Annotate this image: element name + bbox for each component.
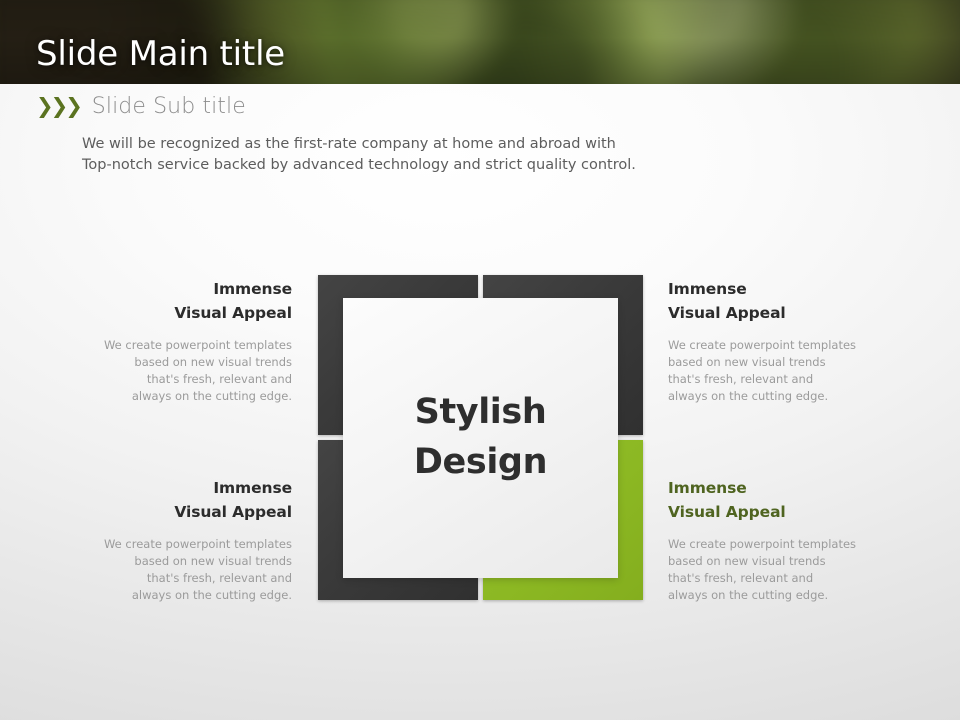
feature-block-bottom-right: Immense Visual Appeal We create powerpoi… <box>668 477 900 604</box>
feature-body-line-4: always on the cutting edge. <box>60 388 292 405</box>
feature-body-line-2: based on new visual trends <box>60 354 292 371</box>
header-banner: Slide Main title <box>0 0 960 84</box>
feature-body-line-3: that's fresh, relevant and <box>668 371 900 388</box>
feature-body-line-1: We create powerpoint templates <box>60 337 292 354</box>
slide-main-title: Slide Main title <box>36 34 285 74</box>
slide-description-line-1: We will be recognized as the first-rate … <box>82 134 842 155</box>
feature-body-line-1: We create powerpoint templates <box>60 536 292 553</box>
feature-block-top-right: Immense Visual Appeal We create powerpoi… <box>668 278 900 405</box>
feature-body: We create powerpoint templates based on … <box>668 536 900 604</box>
feature-body-line-2: based on new visual trends <box>668 553 900 570</box>
feature-body: We create powerpoint templates based on … <box>60 536 292 604</box>
slide-description: We will be recognized as the first-rate … <box>82 134 842 176</box>
feature-body-line-2: based on new visual trends <box>668 354 900 371</box>
feature-body-line-3: that's fresh, relevant and <box>668 570 900 587</box>
feature-heading: Immense Visual Appeal <box>668 278 900 325</box>
feature-body-line-3: that's fresh, relevant and <box>60 371 292 388</box>
feature-heading-line-1: Immense <box>60 477 292 501</box>
feature-heading-line-1: Immense <box>60 278 292 302</box>
feature-body: We create powerpoint templates based on … <box>668 337 900 405</box>
feature-heading-line-2: Visual Appeal <box>60 302 292 326</box>
feature-body-line-1: We create powerpoint templates <box>668 337 900 354</box>
feature-heading: Immense Visual Appeal <box>60 278 292 325</box>
chevron-right-triple-icon: ❯❯❯ <box>36 96 80 117</box>
feature-heading-line-1: Immense <box>668 477 900 501</box>
feature-body-line-4: always on the cutting edge. <box>668 587 900 604</box>
feature-block-top-left: Immense Visual Appeal We create powerpoi… <box>60 278 292 405</box>
feature-body: We create powerpoint templates based on … <box>60 337 292 405</box>
center-card-title-line-2: Design <box>414 438 547 488</box>
feature-block-bottom-left: Immense Visual Appeal We create powerpoi… <box>60 477 292 604</box>
feature-body-line-4: always on the cutting edge. <box>668 388 900 405</box>
center-card-title: Stylish Design <box>414 388 547 487</box>
feature-body-line-2: based on new visual trends <box>60 553 292 570</box>
central-diagram: Stylish Design <box>318 275 643 600</box>
feature-heading-line-2: Visual Appeal <box>60 501 292 525</box>
feature-body-line-3: that's fresh, relevant and <box>60 570 292 587</box>
feature-heading-line-2: Visual Appeal <box>668 302 900 326</box>
feature-heading-accent: Immense Visual Appeal <box>668 477 900 524</box>
feature-heading-line-1: Immense <box>668 278 900 302</box>
feature-body-line-4: always on the cutting edge. <box>60 587 292 604</box>
subtitle-row: ❯❯❯ Slide Sub title <box>36 94 246 119</box>
feature-heading-line-2: Visual Appeal <box>668 501 900 525</box>
center-card-title-line-1: Stylish <box>414 388 547 438</box>
slide-sub-title: Slide Sub title <box>92 94 246 119</box>
slide-description-line-2: Top-notch service backed by advanced tec… <box>82 155 842 176</box>
center-card: Stylish Design <box>343 298 618 578</box>
feature-heading: Immense Visual Appeal <box>60 477 292 524</box>
feature-body-line-1: We create powerpoint templates <box>668 536 900 553</box>
